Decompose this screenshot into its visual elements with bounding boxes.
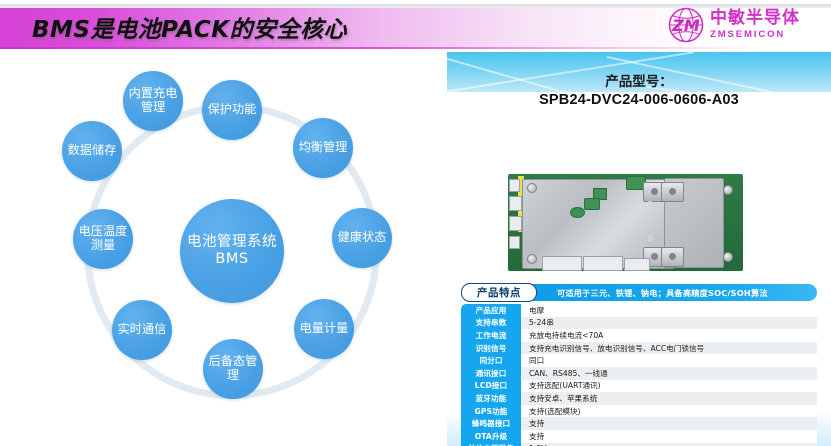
pcb-screw <box>723 252 733 262</box>
logo-wordmark: 中敏半导体 ZMSEMICON <box>710 10 800 40</box>
spec-label: 单体电压采集 <box>461 443 521 446</box>
spec-label: OTA升级 <box>461 430 521 443</box>
logo-name-en: ZMSEMICON <box>710 30 800 40</box>
pcb-balance-connector <box>542 256 582 271</box>
product-model-value: SPB24-DVC24-006-0606-A03 <box>447 92 831 108</box>
diagram-node-balancing[interactable]: 均衡管理 <box>293 118 353 178</box>
svg-text:ZM: ZM <box>671 16 700 35</box>
spec-label: 产品应用 <box>461 304 521 317</box>
pcb-connector <box>509 196 522 211</box>
spec-value: 支持安卓、苹果系统 <box>521 392 817 405</box>
diagram-node-protection[interactable]: 保护功能 <box>202 80 262 140</box>
spec-value: CAN、RS485、一线通 <box>521 367 817 380</box>
spec-value: 支持选配(UART通讯) <box>521 380 817 393</box>
pcb-screw <box>527 183 537 193</box>
globe-zm-icon: ZM <box>667 6 705 44</box>
product-panel: 产品型号： SPB24-DVC24-006-0606-A03 P- B- <box>447 52 831 446</box>
pcb-label-b: B- <box>648 236 655 243</box>
pcb-screw <box>527 254 537 264</box>
pcb-screw <box>723 185 733 195</box>
diagram-node-label: 均衡管理 <box>295 141 352 155</box>
pcb-component <box>570 207 585 218</box>
diagram-node-charge-mgmt[interactable]: 内置充电管理 <box>123 71 183 131</box>
product-model-block: 产品型号： SPB24-DVC24-006-0606-A03 <box>447 70 831 108</box>
diagram-node-label: 数据储存 <box>64 144 121 158</box>
diagram-node-label: 实时通信 <box>114 323 171 337</box>
diagram-node-label: 内置充电管理 <box>123 87 183 114</box>
spec-value: 充放电持续电流<70A <box>521 329 817 342</box>
company-logo: ZM 中敏半导体 ZMSEMICON <box>667 4 823 46</box>
pcb-board-photo: P- B- <box>508 174 743 271</box>
diagram-node-label: 保护功能 <box>204 103 261 117</box>
table-row: 单体电压采集1-5V <box>461 443 817 446</box>
diagram-node-fuel-gauge[interactable]: 电量计量 <box>294 299 354 359</box>
diagram-center-node: 电池管理系统 BMS <box>180 199 284 303</box>
features-badge: 产品特点 <box>461 283 537 302</box>
spec-label: 通讯接口 <box>461 367 521 380</box>
diagram-node-label: 电压温度测量 <box>73 225 133 252</box>
pcb-terminal-b-minus-2 <box>661 247 684 267</box>
spec-label: LCD接口 <box>461 380 521 393</box>
diagram-node-label: 后备态管理 <box>203 355 263 382</box>
table-row: 通讯接口CAN、RS485、一线通 <box>461 367 817 380</box>
diagram-node-voltage-temp[interactable]: 电压温度测量 <box>73 209 133 269</box>
spec-label: 同分口 <box>461 354 521 367</box>
spec-label: 蓝牙功能 <box>461 392 521 405</box>
diagram-node-label: 健康状态 <box>334 231 391 245</box>
spec-value: 1-5V <box>521 443 817 446</box>
spec-label: 支持串数 <box>461 317 521 330</box>
pcb-connector <box>509 216 522 231</box>
pcb-connector <box>509 236 520 249</box>
table-row: 识别信号支持充电识别信号、放电识别信号、ACC电门锁信号 <box>461 342 817 355</box>
features-headline: 可适用于三元、铁锂、钠电；具备高精度SOC/SOH算法 <box>557 287 768 299</box>
logo-name-cn: 中敏半导体 <box>710 10 800 27</box>
bms-circle-diagram: 电池管理系统 BMS 保护功能 均衡管理 健康状态 电量计量 后备态管理 实时通… <box>22 58 442 443</box>
slide-root: BMS是电池PACK的安全核心 ZM 中敏半导体 ZMSEMICON 电池管理系… <box>0 0 831 446</box>
pcb-balance-connector <box>624 258 650 271</box>
diagram-node-data-storage[interactable]: 数据储存 <box>62 121 122 181</box>
table-row: 同分口同口 <box>461 354 817 367</box>
spec-value: 支持(选配模块) <box>521 405 817 418</box>
spec-table: 产品应用电摩 支持串数5-24串 工作电流充放电持续电流<70A 识别信号支持充… <box>461 304 817 446</box>
table-row: LCD接口支持选配(UART通讯) <box>461 380 817 393</box>
table-row: 支持串数5-24串 <box>461 317 817 330</box>
table-row: GPS功能支持(选配模块) <box>461 405 817 418</box>
features-header: 可适用于三元、铁锂、钠电；具备高精度SOC/SOH算法 产品特点 <box>461 284 817 301</box>
spec-value: 支持 <box>521 417 817 430</box>
table-row: OTA升级支持 <box>461 430 817 443</box>
spec-value: 5-24串 <box>521 317 817 330</box>
spec-label: 蜂鸣器接口 <box>461 417 521 430</box>
page-title: BMS是电池PACK的安全核心 <box>32 10 347 44</box>
pcb-balance-connector <box>583 256 623 271</box>
product-model-label: 产品型号： <box>447 70 831 90</box>
pcb-component <box>584 198 600 210</box>
spec-label: GPS功能 <box>461 405 521 418</box>
table-row: 工作电流充放电持续电流<70A <box>461 329 817 342</box>
diagram-node-standby[interactable]: 后备态管理 <box>203 339 263 399</box>
pcb-connector <box>509 179 520 192</box>
table-row: 产品应用电摩 <box>461 304 817 317</box>
header-underline <box>0 47 831 49</box>
pcb-terminal-p-minus-2 <box>661 182 684 202</box>
spec-value: 同口 <box>521 354 817 367</box>
spec-value: 支持充电识别信号、放电识别信号、ACC电门锁信号 <box>521 342 817 355</box>
spec-label: 识别信号 <box>461 342 521 355</box>
diagram-node-health[interactable]: 健康状态 <box>332 208 392 268</box>
diagram-center-label: 电池管理系统 BMS <box>180 234 284 266</box>
features-headline-bar: 可适用于三元、铁锂、钠电；具备高精度SOC/SOH算法 <box>521 284 817 301</box>
spec-value: 支持 <box>521 430 817 443</box>
table-row: 蓝牙功能支持安卓、苹果系统 <box>461 392 817 405</box>
table-row: 蜂鸣器接口支持 <box>461 417 817 430</box>
spec-label: 工作电流 <box>461 329 521 342</box>
spec-value: 电摩 <box>521 304 817 317</box>
diagram-node-realtime-comm[interactable]: 实时通信 <box>112 300 172 360</box>
diagram-node-label: 电量计量 <box>296 322 353 336</box>
pcb-label-p: P- <box>648 201 655 208</box>
